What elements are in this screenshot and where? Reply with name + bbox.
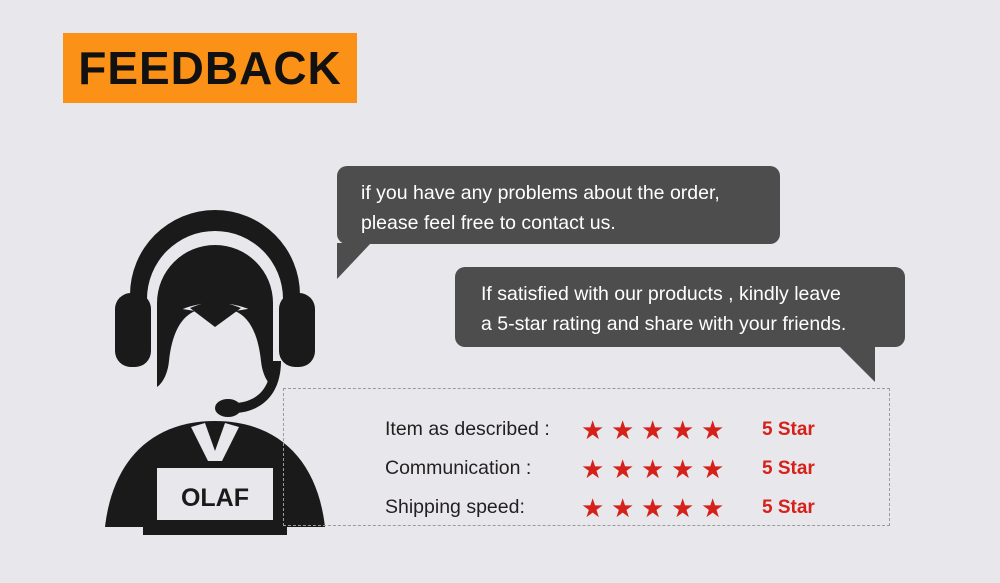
star-icon: ★ (671, 458, 693, 480)
star-icon: ★ (581, 419, 603, 441)
feedback-banner: FEEDBACK (63, 33, 357, 103)
rating-row-shipping-speed: Shipping speed: ★ ★ ★ ★ ★ 5 Star (385, 488, 855, 527)
bubble-rating-request: If satisfied with our products , kindly … (455, 267, 905, 347)
star-icon: ★ (611, 419, 633, 441)
bubble-order-help-tail (337, 243, 371, 279)
rating-row-communication: Communication : ★ ★ ★ ★ ★ 5 Star (385, 449, 855, 488)
star-icon: ★ (641, 497, 663, 519)
rating-label: Communication : (385, 457, 581, 480)
bubble-order-help-text: if you have any problems about the order… (361, 178, 760, 238)
star-icon: ★ (611, 458, 633, 480)
bubble-order-help: if you have any problems about the order… (337, 166, 780, 244)
page-title: FEEDBACK (78, 45, 342, 91)
star-icon: ★ (701, 458, 723, 480)
star-icon: ★ (641, 419, 663, 441)
ratings-list: Item as described : ★ ★ ★ ★ ★ 5 Star Com… (385, 410, 855, 527)
rating-value: 5 Star (746, 419, 815, 441)
rating-label: Shipping speed: (385, 496, 581, 519)
star-icon: ★ (701, 497, 723, 519)
rating-label: Item as described : (385, 418, 581, 441)
rating-stars: ★ ★ ★ ★ ★ (581, 458, 746, 480)
rating-row-item-as-described: Item as described : ★ ★ ★ ★ ★ 5 Star (385, 410, 855, 449)
star-icon: ★ (581, 497, 603, 519)
bubble-rating-request-text: If satisfied with our products , kindly … (481, 279, 885, 339)
rating-value: 5 Star (746, 458, 815, 480)
rating-value: 5 Star (746, 497, 815, 519)
rating-stars: ★ ★ ★ ★ ★ (581, 419, 746, 441)
star-icon: ★ (611, 497, 633, 519)
star-icon: ★ (701, 419, 723, 441)
star-icon: ★ (671, 419, 693, 441)
rating-stars: ★ ★ ★ ★ ★ (581, 497, 746, 519)
star-icon: ★ (581, 458, 603, 480)
star-icon: ★ (641, 458, 663, 480)
star-icon: ★ (671, 497, 693, 519)
laptop-badge-label: OLAF (181, 484, 249, 512)
bubble-rating-request-tail (839, 346, 875, 382)
